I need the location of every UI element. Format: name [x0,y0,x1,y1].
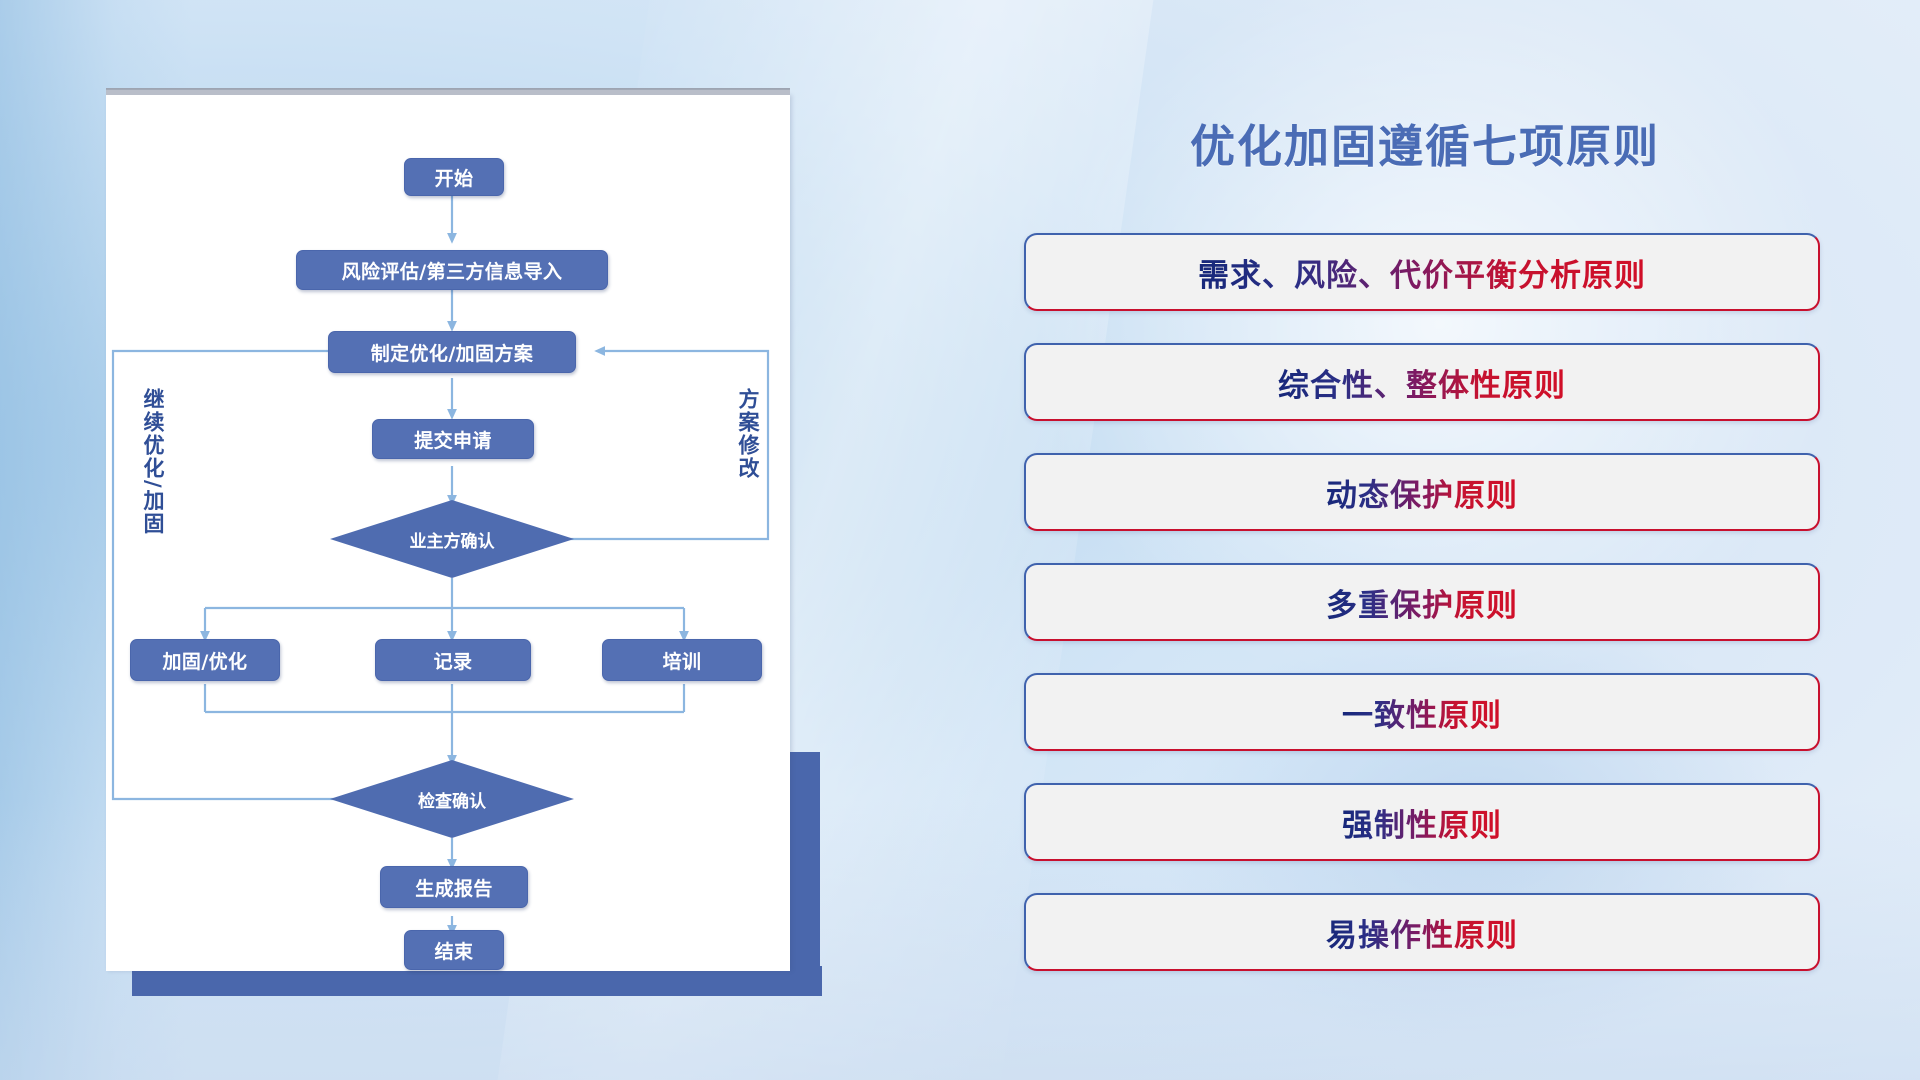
flow-node-end[interactable]: 结束 [404,930,504,970]
flow-node-start[interactable]: 开始 [404,158,504,196]
flow-node-submit-application[interactable]: 提交申请 [372,419,534,459]
flow-node-risk-assessment[interactable]: 风险评估/第三方信息导入 [296,250,608,290]
principle-label-7: 易操作性原则 [1326,910,1518,955]
principles-title: 优化加固遵循七项原则 [1030,110,1820,175]
flow-node-training[interactable]: 培训 [602,639,762,681]
principle-card-7[interactable]: 易操作性原则 [1024,893,1820,971]
principle-card-3[interactable]: 动态保护原则 [1024,453,1820,531]
principle-card-1[interactable]: 需求、风险、代价平衡分析原则 [1024,233,1820,311]
flow-node-generate-report[interactable]: 生成报告 [380,866,528,908]
flow-edge-label-plan-revision: 方案修改 [737,388,759,480]
principle-label-5: 一致性原则 [1342,690,1502,735]
principle-card-4[interactable]: 多重保护原则 [1024,563,1820,641]
principle-label-6: 强制性原则 [1342,800,1502,845]
principle-card-6[interactable]: 强制性原则 [1024,783,1820,861]
principle-card-2[interactable]: 综合性、整体性原则 [1024,343,1820,421]
flow-node-plan[interactable]: 制定优化/加固方案 [328,331,576,373]
principle-card-5[interactable]: 一致性原则 [1024,673,1820,751]
principle-label-3: 动态保护原则 [1326,470,1518,515]
principles-list: 需求、风险、代价平衡分析原则 综合性、整体性原则 动态保护原则 多重保护原则 一… [1024,233,1820,1003]
slide-canvas: 开始 风险评估/第三方信息导入 制定优化/加固方案 提交申请 业主方确认 加固/… [0,0,1920,1080]
flow-node-record[interactable]: 记录 [375,639,531,681]
flow-edge-label-continue-optimize: 继续优化/加固 [142,388,164,536]
principle-label-2: 综合性、整体性原则 [1278,360,1566,405]
principle-label-4: 多重保护原则 [1326,580,1518,625]
principle-label-1: 需求、风险、代价平衡分析原则 [1198,250,1646,295]
flow-node-reinforce-optimize[interactable]: 加固/优化 [130,639,280,681]
